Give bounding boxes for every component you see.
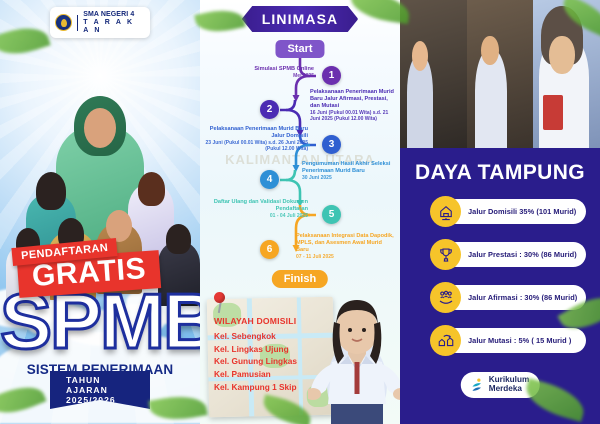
list-item: Kel. Sebengkok <box>214 330 297 343</box>
timeline-step-1-date: Mei 2025 <box>206 73 314 79</box>
trophy-icon <box>430 239 461 270</box>
timeline-node-5[interactable]: 5 <box>322 205 341 224</box>
wilayah-domisili-list: Kel. Sebengkok Kel. Lingkas Ujung Kel. G… <box>214 330 297 393</box>
classroom-photo <box>400 0 467 148</box>
school-badge: SMA NEGERI 4 T A R A K A N <box>50 7 150 38</box>
quota-label: Jalur Domisili 35% (101 Murid) <box>468 207 576 216</box>
timeline-step-5-title: Daftar Ulang dan Validasi Dokumen Pendaf… <box>204 199 308 213</box>
right-panel: DAYA TAMPUNG Jalur Domisili 35% (101 Mur… <box>400 0 600 424</box>
poster-root: SMA NEGERI 4 T A R A K A N <box>0 0 600 424</box>
timeline-step-4-text: Pengumuman Hasil Akhir Seleksi Penerimaa… <box>302 161 394 181</box>
quota-pill: Jalur Afirmasi : 30% (86 Murid) <box>444 285 586 310</box>
daya-tampung-title: DAYA TAMPUNG <box>400 161 600 185</box>
timeline-step-2-text: Pelaksanaan Penerimaan Murid Baru Jalur … <box>310 89 398 122</box>
map-pin-icon <box>214 292 230 314</box>
map-road <box>297 297 303 415</box>
timeline-step-4-title: Pengumuman Hasil Akhir Seleksi Penerimaa… <box>302 161 394 175</box>
student-photo <box>84 108 116 148</box>
timeline-step-5-date: 01 - 04 Juli 2025 <box>204 213 308 219</box>
middle-panel: KALIMANTAN UTARA LINIMASA Start 1 2 3 4 … <box>200 0 400 424</box>
school-name-line1: SMA NEGERI 4 <box>83 11 142 19</box>
school-badge-text: SMA NEGERI 4 T A R A K A N <box>83 11 142 34</box>
timeline-step-2-title: Pelaksanaan Penerimaan Murid Baru Jalur … <box>310 89 398 110</box>
timeline-node-2[interactable]: 2 <box>260 100 279 119</box>
house-transfer-icon <box>430 325 461 356</box>
student-photo <box>106 210 132 242</box>
quota-row[interactable]: Jalur Mutasi : 5% ( 15 Murid ) <box>430 325 461 356</box>
classroom-photo <box>467 0 534 148</box>
kurikulum-line2: Merdeka <box>489 385 530 394</box>
quota-list: Jalur Domisili 35% (101 Murid) Jalur Pre… <box>430 196 461 368</box>
timeline-step-1-title: Simulasi SPMB Online <box>206 66 314 73</box>
list-item: Kel. Kampung 1 Skip <box>214 381 297 394</box>
badge-divider <box>77 15 78 31</box>
school-crest-icon <box>55 14 72 31</box>
quota-label: Jalur Prestasi : 30% (86 Murid) <box>468 250 577 259</box>
timeline-step-4-date: 30 Juni 2025 <box>302 175 394 181</box>
quota-label: Jalur Afirmasi : 30% (86 Murid) <box>468 293 577 302</box>
timeline-start-badge: Start <box>275 40 324 58</box>
wilayah-domisili-title: WILAYAH DOMISILI <box>214 316 296 326</box>
quota-row[interactable]: Jalur Afirmasi : 30% (86 Murid) <box>430 282 461 313</box>
school-name-line2: T A R A K A N <box>83 19 142 35</box>
list-item: Kel. Pamusian <box>214 368 297 381</box>
left-panel: SMA NEGERI 4 T A R A K A N <box>0 0 200 424</box>
presenter-student-photo <box>308 244 400 424</box>
timeline-step-3-title: Pelaksanaan Penerimaan Murid Baru Jalur … <box>204 126 308 140</box>
timeline-node-1[interactable]: 1 <box>322 66 341 85</box>
timeline-step-1-text: Simulasi SPMB Online Mei 2025 <box>206 66 314 79</box>
quota-row[interactable]: Jalur Prestasi : 30% (86 Murid) <box>430 239 461 270</box>
kurikulum-merdeka-text: Kurikulum Merdeka <box>489 376 530 394</box>
timeline-step-5-text: Daftar Ulang dan Validasi Dokumen Pendaf… <box>204 199 308 219</box>
timeline-header: LINIMASA <box>242 6 358 32</box>
student-photo <box>166 224 191 254</box>
helping-hands-icon <box>430 282 461 313</box>
timeline-node-6[interactable]: 6 <box>260 240 279 259</box>
quota-pill: Jalur Mutasi : 5% ( 15 Murid ) <box>444 328 586 353</box>
timeline-step-3-text: Pelaksanaan Penerimaan Murid Baru Jalur … <box>204 126 308 152</box>
house-scale-icon <box>430 196 461 227</box>
timeline-node-3[interactable]: 3 <box>322 135 341 154</box>
quota-label: Jalur Mutasi : 5% ( 15 Murid ) <box>468 336 571 345</box>
quota-pill: Jalur Prestasi : 30% (86 Murid) <box>444 242 586 267</box>
list-item: Kel. Lingkas Ujung <box>214 343 297 356</box>
student-photo <box>138 172 165 206</box>
timeline-step-3-date: 23 Juni (Pukul 00.01 Wita) s.d. 26 Juni … <box>204 140 308 152</box>
student-photo <box>36 172 66 210</box>
photo-strip <box>400 0 600 148</box>
list-item: Kel. Gunung Lingkas <box>214 355 297 368</box>
timeline-step-2-date: 16 Juni (Pukul 00.01 Wita) s.d. 21 Juni … <box>310 110 398 122</box>
timeline-node-4[interactable]: 4 <box>260 170 279 189</box>
quota-pill: Jalur Domisili 35% (101 Murid) <box>444 199 586 224</box>
kurikulum-merdeka-icon <box>471 378 484 393</box>
quota-row[interactable]: Jalur Domisili 35% (101 Murid) <box>430 196 461 227</box>
